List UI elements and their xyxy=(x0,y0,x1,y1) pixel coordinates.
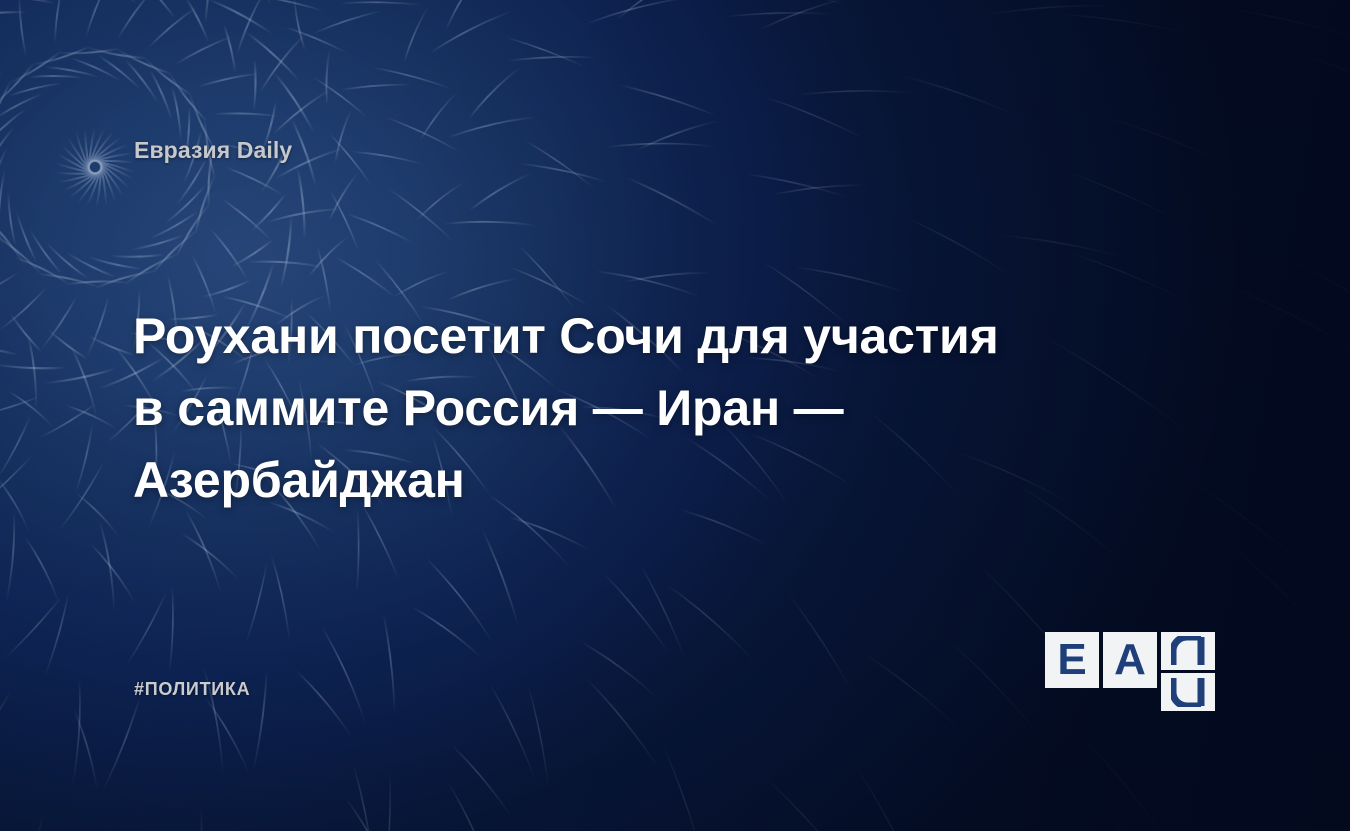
headline-line-3: Азербайджан xyxy=(133,444,1113,516)
logo-tile-d xyxy=(1161,632,1215,711)
logo-tile-d-upper xyxy=(1161,632,1215,670)
logo-tile-a: A xyxy=(1103,632,1157,688)
category-tag-politika[interactable]: #ПОЛИТИКА xyxy=(134,679,250,700)
logo-tile-d-lower xyxy=(1161,673,1215,711)
logo-tile-e: E xyxy=(1045,632,1099,688)
ead-logo[interactable]: E A xyxy=(1045,632,1215,711)
headline-line-1: Роухани посетит Сочи для участия xyxy=(133,300,1113,372)
headline-line-2: в саммите Россия — Иран — xyxy=(133,372,1113,444)
article-share-card: Евразия Daily Роухани посетит Сочи для у… xyxy=(0,0,1350,831)
article-headline: Роухани посетит Сочи для участия в самми… xyxy=(133,300,1113,516)
site-wordmark[interactable]: Евразия Daily xyxy=(134,137,292,164)
